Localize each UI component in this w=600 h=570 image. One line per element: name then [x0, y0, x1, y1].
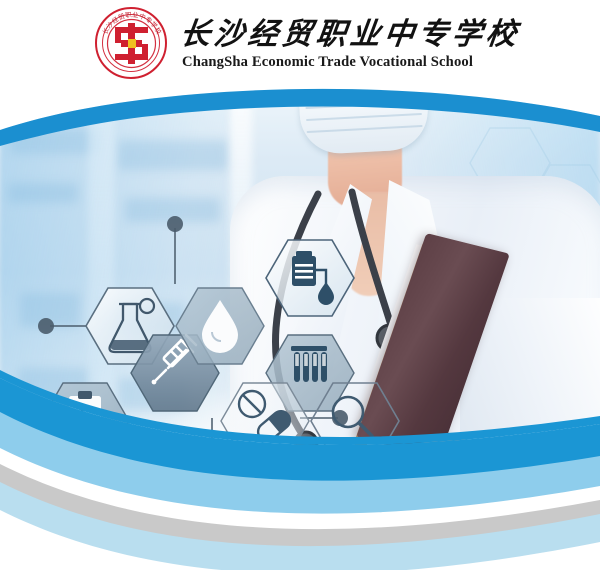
bottom-wave-decoration	[0, 360, 600, 570]
top-blue-arc	[0, 88, 600, 146]
school-crest-logo[interactable]: 长沙经贸职业中专学校	[94, 6, 170, 82]
site-header: 长沙经贸职业中专学校	[0, 0, 600, 88]
hero-banner	[0, 88, 600, 570]
hex-iv-bag	[266, 240, 354, 316]
logo-emblem-mark	[106, 18, 157, 69]
header-titles: 长沙经贸职业中专学校 ChangSha Economic Trade Vocat…	[180, 17, 520, 71]
school-name-chinese: 长沙经贸职业中专学校	[178, 19, 522, 51]
header-inner: 长沙经贸职业中专学校	[94, 6, 520, 82]
banner-page: 长沙经贸职业中专学校	[0, 0, 600, 570]
school-name-english: ChangSha Economic Trade Vocational Schoo…	[182, 54, 520, 71]
